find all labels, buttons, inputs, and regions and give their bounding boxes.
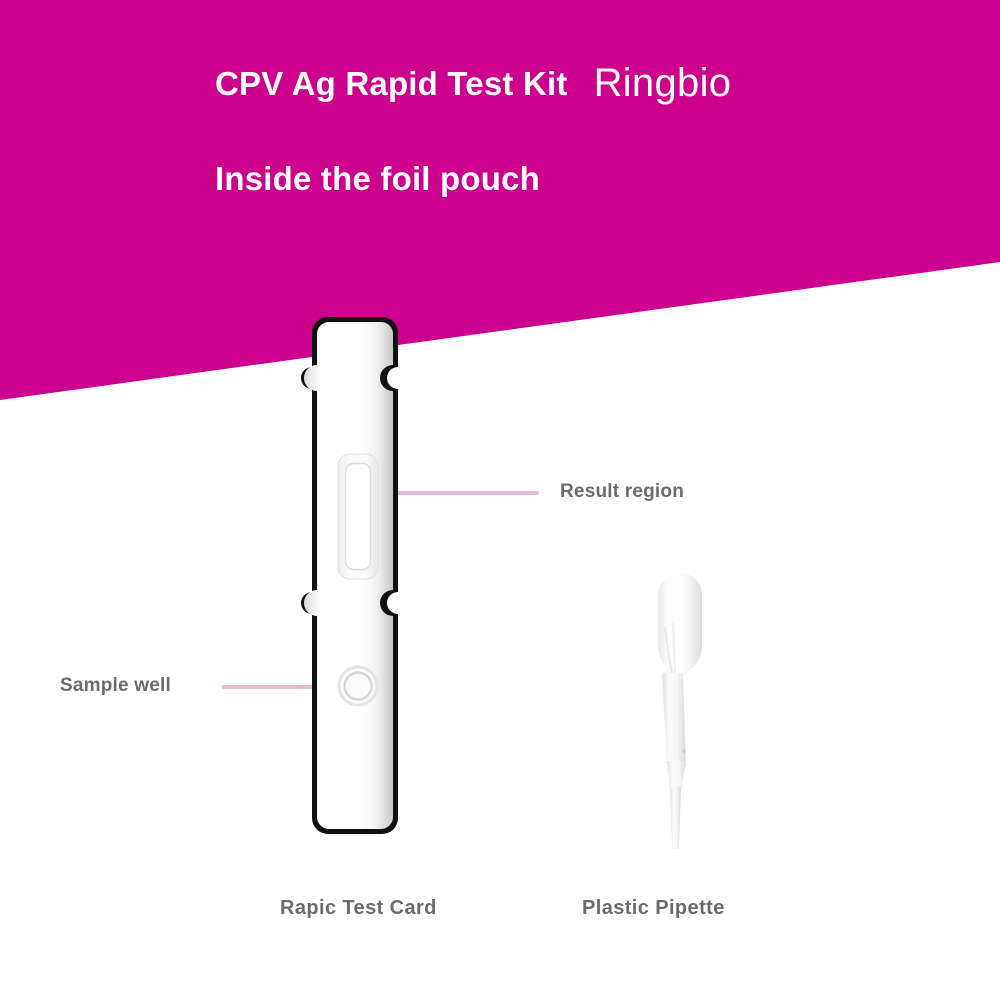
caption-rapid-test-card: Rapic Test Card [280,897,437,920]
product-illustration-page: CPV Ag Rapid Test Kit Ringbio Inside the… [0,0,1000,1000]
callout-label-result-region: Result region [560,481,684,503]
sample-well-hole [339,667,377,705]
title-row: CPV Ag Rapid Test Kit Ringbio [215,60,731,105]
result-window [338,454,378,579]
pipette-stem-upper [662,673,686,767]
page-title: CPV Ag Rapid Test Kit [215,65,568,103]
pipette-shoulder [667,761,686,791]
pipette-tip [670,787,681,849]
test-card-svg [300,305,410,865]
caption-plastic-pipette: Plastic Pipette [582,897,725,920]
page-subtitle: Inside the foil pouch [215,160,540,198]
rapid-test-card-illustration [300,305,410,865]
pipette-bulb [658,573,702,681]
plastic-pipette-illustration [615,555,735,865]
pipette-svg [615,555,735,865]
brand-logo-text: Ringbio [594,61,732,106]
callout-label-sample-well: Sample well [60,675,171,697]
